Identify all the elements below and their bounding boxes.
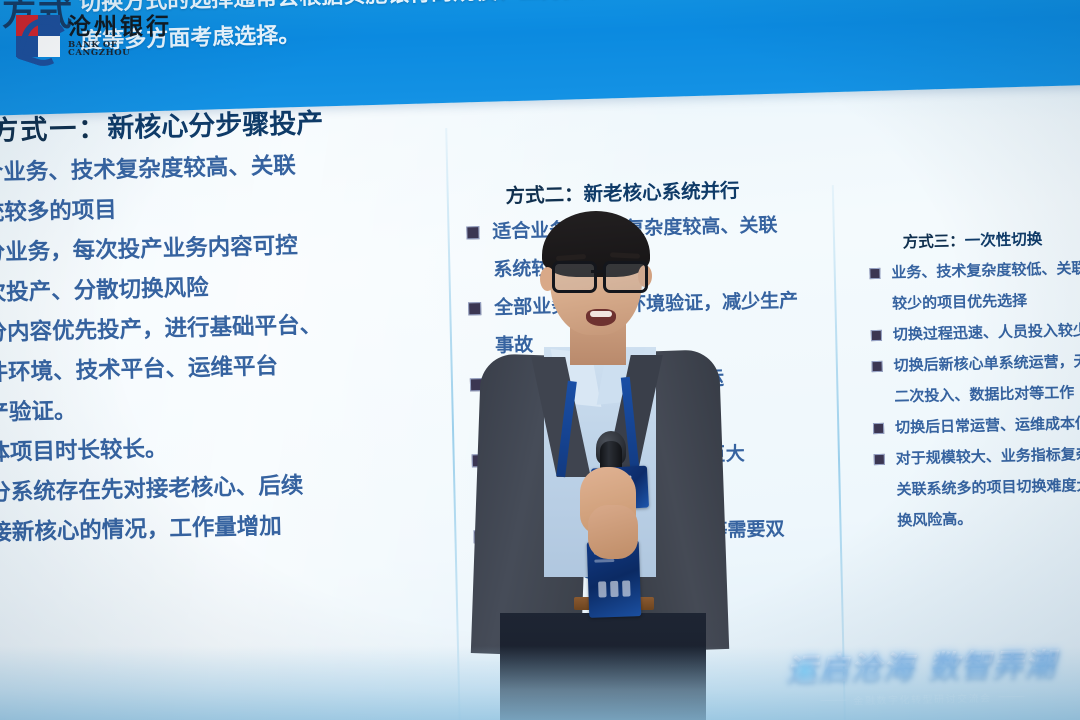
bank-logo-name-cn: 沧州银行 — [68, 15, 176, 38]
list-item: 系统较多的项目 — [459, 244, 850, 288]
list-item: 关联系统多的项目切换难度大、切 — [868, 470, 1080, 506]
column-two-title-lead: 方式二： — [505, 184, 584, 208]
column-three-title-sub: 一次性切换 — [965, 231, 1043, 250]
bullet-square-icon — [871, 330, 882, 341]
slide-column-three: 方式三：一次性切换 业务、技术复杂度较低、关联系统 较少的项目优先选择 切换过程… — [862, 225, 1080, 537]
list-item: 行情况监控 — [463, 396, 854, 440]
list-item: 切换后日常运营、运维成本低 — [867, 408, 1080, 444]
column-one-title-sub: 新核心分步骤投产 — [107, 108, 324, 143]
list-item: 换风险高。 — [869, 501, 1080, 537]
slide-column-one: 方式一：新核心分步骤投产 适合业务、技术复杂度较高、关联 系统较多的项目 拆分业… — [0, 98, 447, 552]
bank-logo-name-en: BANK OF CANGZHOU — [68, 41, 176, 58]
list-item: 全部业务在生产环境验证，减少生产 — [460, 282, 851, 326]
watermark-title-right: 数智弄潮 — [928, 647, 1057, 685]
bullet-square-icon — [468, 302, 481, 315]
column-one-title-lead: 方式一： — [0, 113, 108, 146]
column-two-title-sub: 新老核心系统并行 — [583, 180, 739, 206]
list-item: 对于规模较大、业务指标复杂、 — [867, 439, 1080, 475]
column-three-title-lead: 方式三： — [903, 233, 965, 251]
bullet-square-icon — [873, 423, 884, 434]
list-item: 并行期间运维等团队投入巨大 — [463, 434, 854, 478]
list-item: 较少的项目优先选择 — [864, 284, 1080, 320]
watermark-title: 运启沧海数智弄潮 — [771, 639, 1072, 689]
header-line-one: 切换方式的选择通常会根据实施银行的规模、业务复杂度、技术复杂度、关联系统数量、切… — [79, 0, 1004, 17]
presentation-photo: 方式一：新核心分步骤投产 适合业务、技术复杂度较高、关联 系统较多的项目 拆分业… — [0, 0, 1080, 720]
list-item: 切换后新核心单系统运营，无需 — [865, 346, 1080, 382]
bullet-square-icon — [466, 226, 479, 239]
list-item: 事故 — [461, 320, 852, 364]
bullet-square-icon — [473, 530, 486, 543]
list-item: 并行期间账务、监管要求等需要双 — [465, 510, 856, 554]
column-two-bullets: 适合业务、技术复杂度较高、关联 系统较多的项目 全部业务在生产环境验证，减少生产… — [458, 206, 857, 592]
list-item: 需要同时对新老系统进行运 — [462, 358, 853, 402]
list-item: 切换过程迅速、人员投入较少 — [865, 315, 1080, 351]
bullet-square-icon — [874, 454, 885, 465]
bullet-square-icon — [872, 361, 883, 372]
list-item: 二次投入、数据比对等工作 — [866, 377, 1080, 413]
list-item: 保证双系统运行平稳 — [464, 472, 855, 516]
bullet-square-icon — [472, 454, 485, 467]
list-item: 适合业务、技术复杂度较高、关联 — [458, 206, 849, 250]
bank-logo: 沧州银行 BANK OF CANGZHOU — [16, 11, 176, 61]
bank-logo-emblem-icon — [16, 15, 60, 57]
event-watermark: 运启沧海数智弄潮 金融数字化转型研讨交流会 — [771, 639, 1072, 709]
bullet-square-icon — [869, 268, 880, 279]
column-one-bullets: 适合业务、技术复杂度较高、关联 系统较多的项目 拆分业务，每次投产业务内容可控 … — [0, 143, 447, 552]
bullet-square-icon — [470, 378, 483, 391]
slide-column-two: 方式二：新老核心系统并行 适合业务、技术复杂度较高、关联 系统较多的项目 全部业… — [457, 171, 857, 592]
column-three-bullets: 业务、技术复杂度较低、关联系统 较少的项目优先选择 切换过程迅速、人员投入较少 … — [863, 253, 1080, 537]
list-item: 业务、技术复杂度较低、关联系统 — [863, 253, 1080, 289]
